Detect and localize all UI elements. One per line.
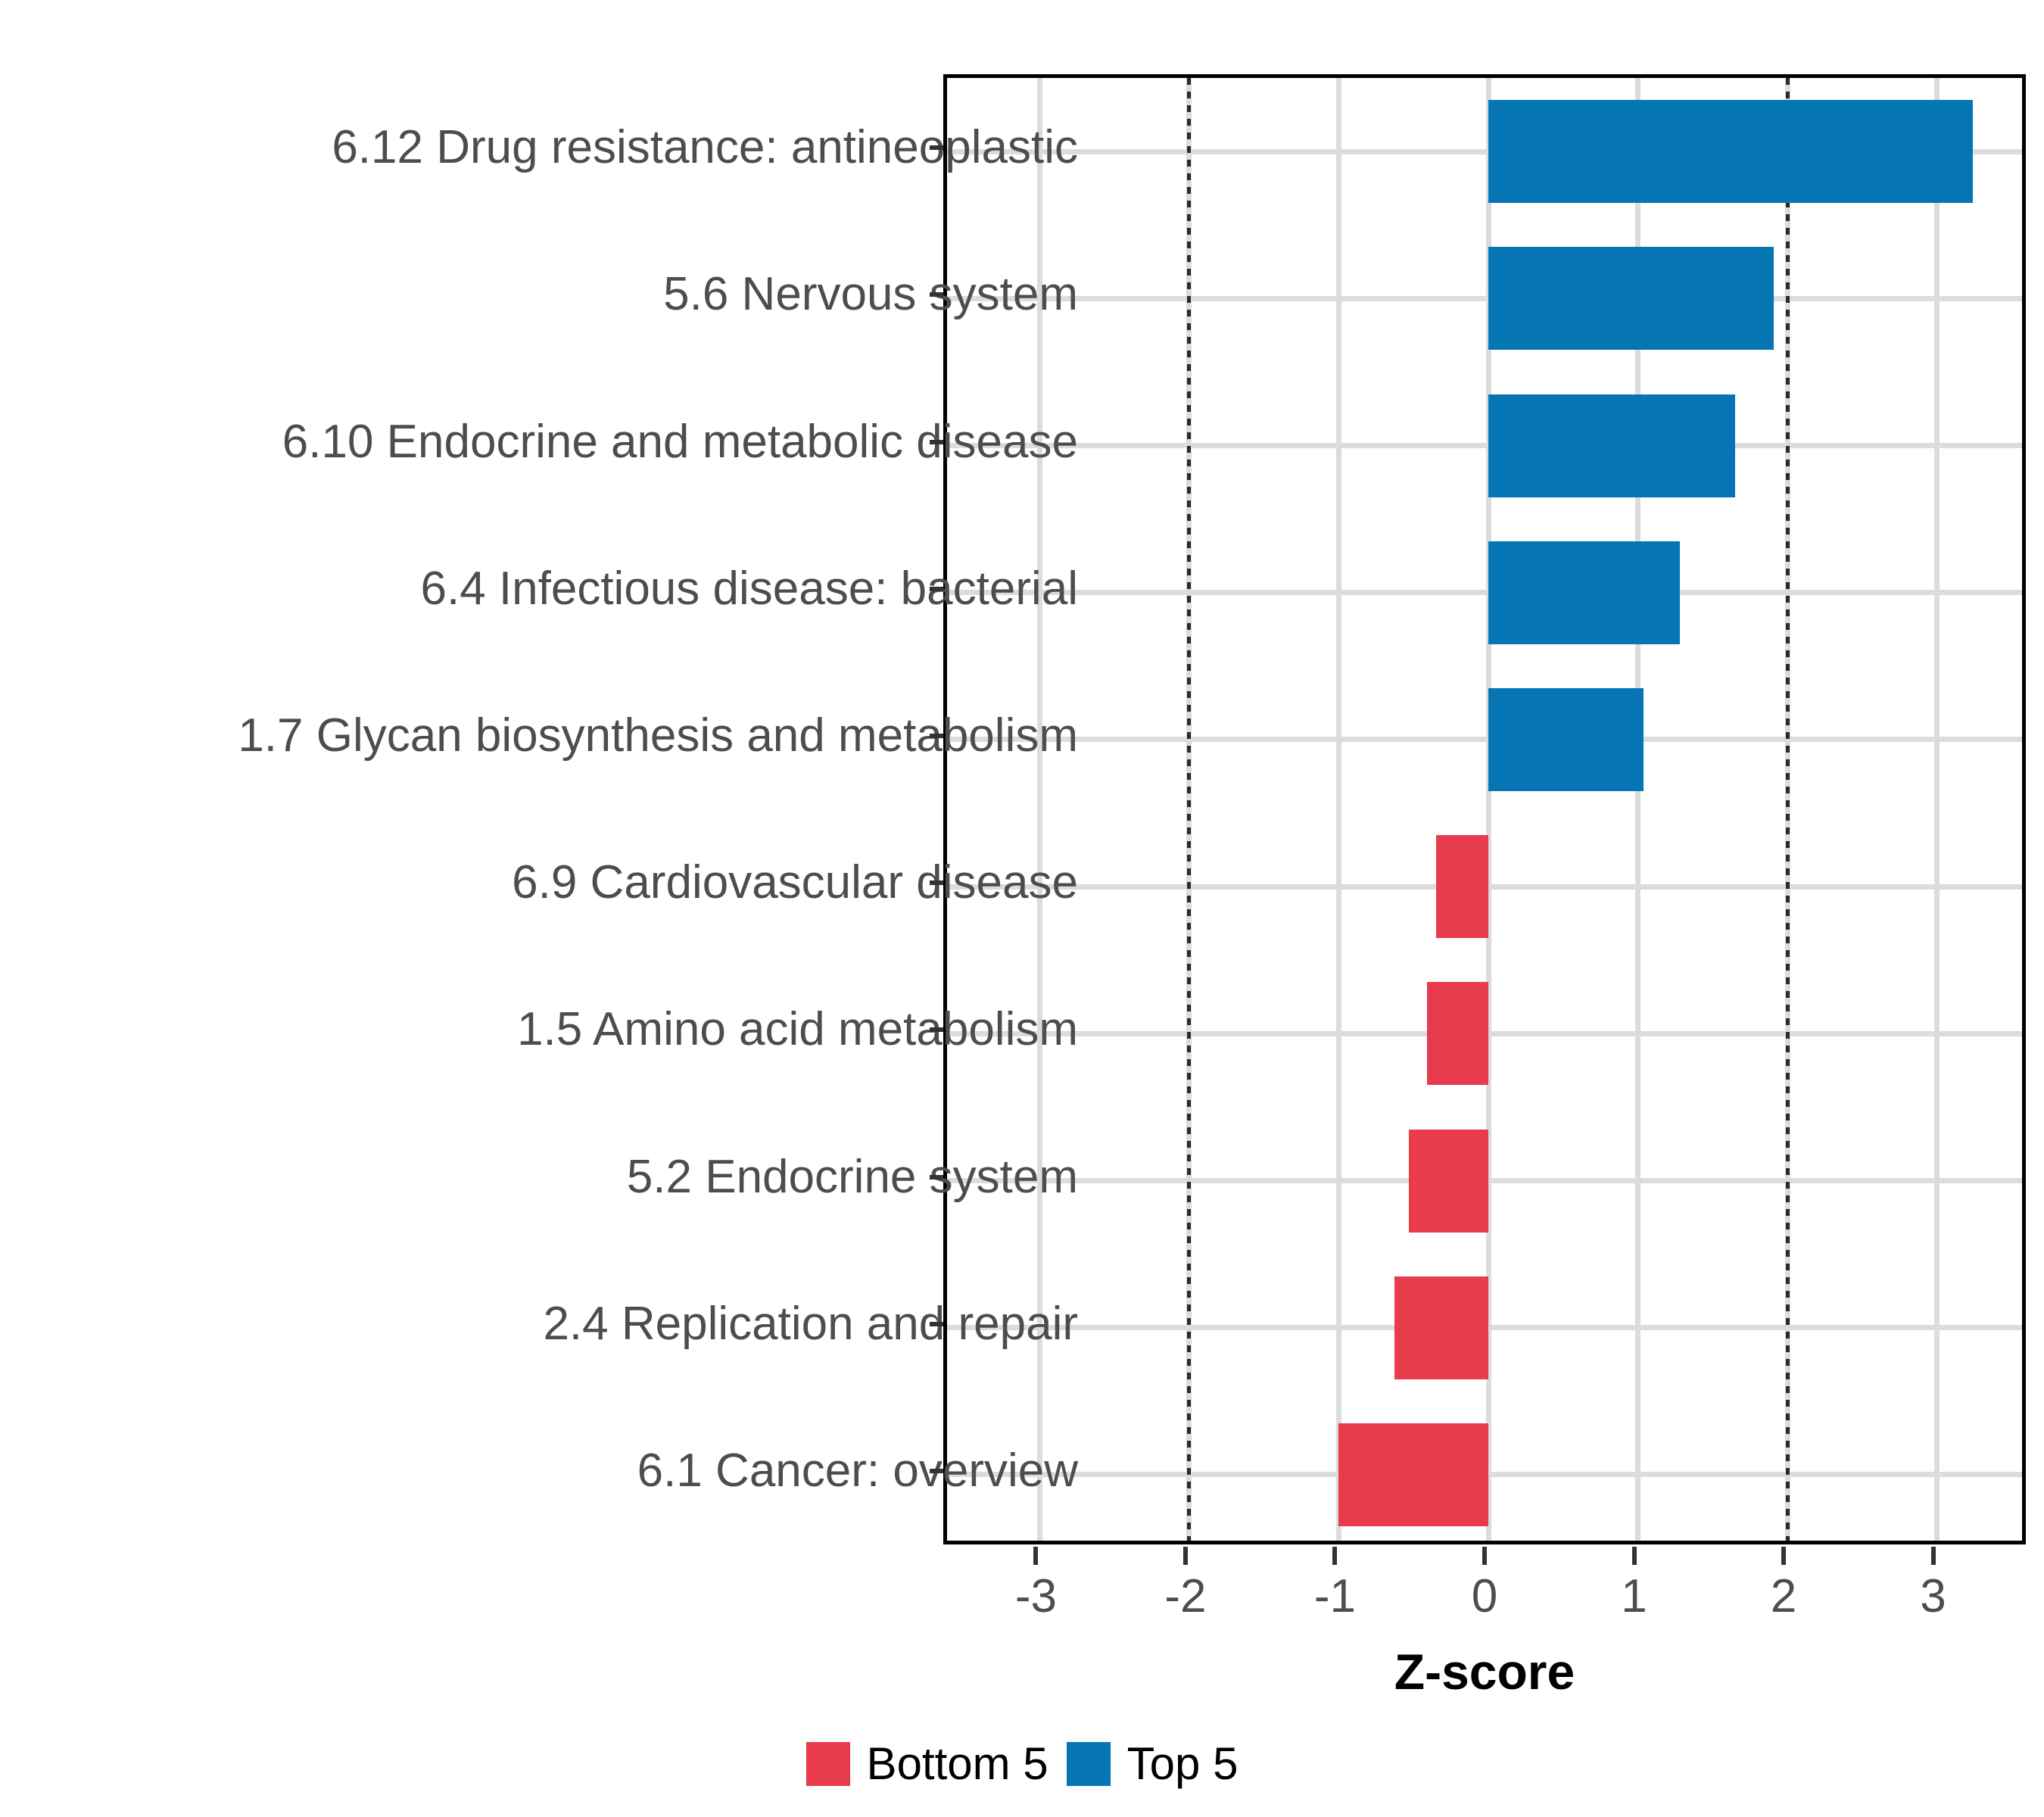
- y-axis-tick-mark: [930, 880, 943, 885]
- bar: [1488, 688, 1644, 791]
- x-axis-tick-mark: [1332, 1547, 1337, 1565]
- y-axis-tick-mark: [930, 440, 943, 444]
- bar: [1488, 247, 1774, 350]
- y-axis-tick-mark: [930, 1469, 943, 1473]
- horizontal-gridline: [947, 737, 2022, 742]
- x-axis-tick-label: -3: [1015, 1573, 1057, 1620]
- horizontal-gridline: [947, 590, 2022, 595]
- y-axis-tick-mark: [930, 1175, 943, 1180]
- bar: [1488, 394, 1735, 497]
- x-axis-tick-label: 3: [1920, 1573, 1946, 1620]
- x-axis-title: Z-score: [1394, 1643, 1575, 1700]
- legend-swatch: [806, 1742, 850, 1786]
- horizontal-gridline: [947, 443, 2022, 448]
- reference-line: [1187, 78, 1191, 1541]
- chart-figure: 6.12 Drug resistance: antineoplastic5.6 …: [0, 0, 2044, 1817]
- bar: [1394, 1276, 1488, 1379]
- x-axis-tick-mark: [1632, 1547, 1637, 1565]
- bar: [1409, 1130, 1488, 1233]
- x-axis-tick-mark: [1931, 1547, 1936, 1565]
- y-axis-tick-mark: [930, 1322, 943, 1326]
- horizontal-gridline: [947, 296, 2022, 301]
- chart-legend: Bottom 5Top 5: [0, 1741, 2044, 1787]
- y-axis-tick-mark: [930, 587, 943, 591]
- y-axis-tick-label: 6.4 Infectious disease: bacterial: [420, 566, 1078, 612]
- y-axis-tick-mark: [930, 734, 943, 738]
- legend-item[interactable]: Bottom 5: [806, 1741, 1048, 1787]
- x-axis-tick-label: 1: [1621, 1573, 1647, 1620]
- legend-label: Bottom 5: [867, 1741, 1048, 1787]
- x-axis-tick-mark: [1482, 1547, 1487, 1565]
- bar: [1488, 541, 1680, 644]
- bar: [1488, 100, 1973, 203]
- x-axis-tick-label: 2: [1771, 1573, 1796, 1620]
- y-axis-tick-label: 5.6 Nervous system: [663, 271, 1078, 318]
- y-axis-tick-label: 6.1 Cancer: overview: [637, 1448, 1078, 1494]
- x-axis-tick-label: 0: [1472, 1573, 1497, 1620]
- x-axis-tick-label: -2: [1164, 1573, 1206, 1620]
- y-axis-tick-label: 5.2 Endocrine system: [627, 1154, 1078, 1201]
- x-axis-tick-mark: [1183, 1547, 1188, 1565]
- y-axis-tick-label: 2.4 Replication and repair: [543, 1301, 1078, 1348]
- x-axis-tick-mark: [1033, 1547, 1038, 1565]
- legend-item[interactable]: Top 5: [1067, 1741, 1239, 1787]
- legend-swatch: [1067, 1742, 1111, 1786]
- y-axis-tick-label: 6.10 Endocrine and metabolic disease: [282, 419, 1078, 466]
- reference-line: [1786, 78, 1790, 1541]
- y-axis-tick-label: 1.5 Amino acid metabolism: [517, 1006, 1078, 1053]
- y-axis-tick-label: 6.9 Cardiovascular disease: [512, 859, 1078, 906]
- y-axis-tick-mark: [930, 1027, 943, 1032]
- bar: [1427, 982, 1488, 1085]
- bar: [1436, 835, 1488, 938]
- legend-label: Top 5: [1127, 1741, 1239, 1787]
- y-axis-tick-mark: [930, 145, 943, 150]
- plot-panel: [943, 74, 2026, 1544]
- x-axis-tick-label: -1: [1314, 1573, 1356, 1620]
- x-axis-tick-mark: [1781, 1547, 1786, 1565]
- y-axis-tick-label: 6.12 Drug resistance: antineoplastic: [332, 124, 1078, 171]
- bar: [1338, 1423, 1488, 1526]
- y-axis-tick-label: 1.7 Glycan biosynthesis and metabolism: [238, 712, 1078, 759]
- y-axis-tick-mark: [930, 292, 943, 297]
